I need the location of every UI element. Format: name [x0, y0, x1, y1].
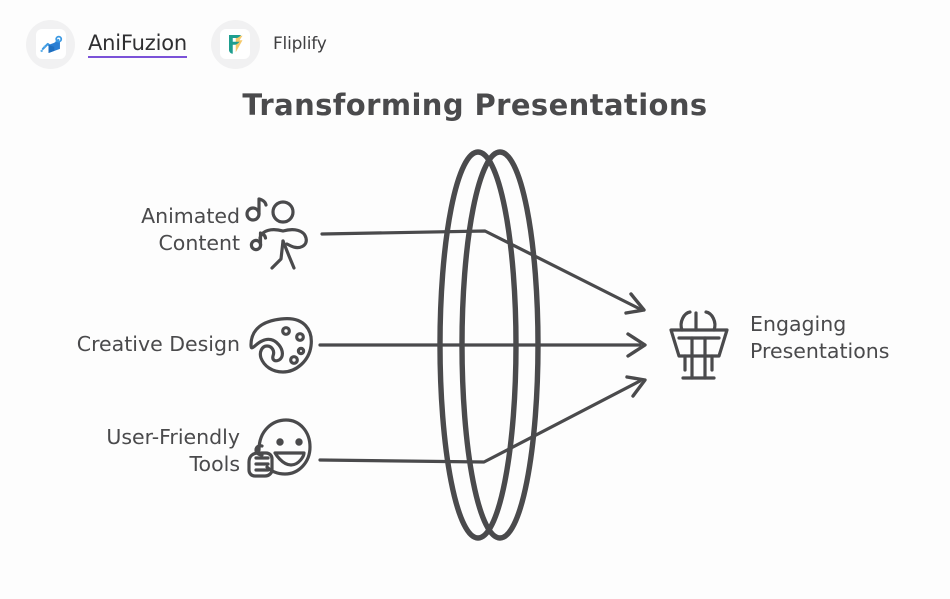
diagram-canvas [0, 0, 950, 599]
label-animated-content: Animated Content [40, 203, 240, 257]
connector-animated-content [322, 231, 640, 309]
label-engaging-presentations: Engaging Presentations [750, 311, 950, 365]
paint-palette-icon [251, 319, 311, 372]
dancing-person-music-icon [247, 199, 306, 268]
podium-lectern-icon [671, 312, 727, 378]
label-user-friendly: User-Friendly Tools [20, 424, 240, 478]
connector-user-friendly [320, 381, 640, 462]
label-creative-design: Creative Design [0, 331, 240, 358]
thumbs-up-smiley-icon [249, 420, 310, 476]
connector-lines [320, 231, 640, 462]
